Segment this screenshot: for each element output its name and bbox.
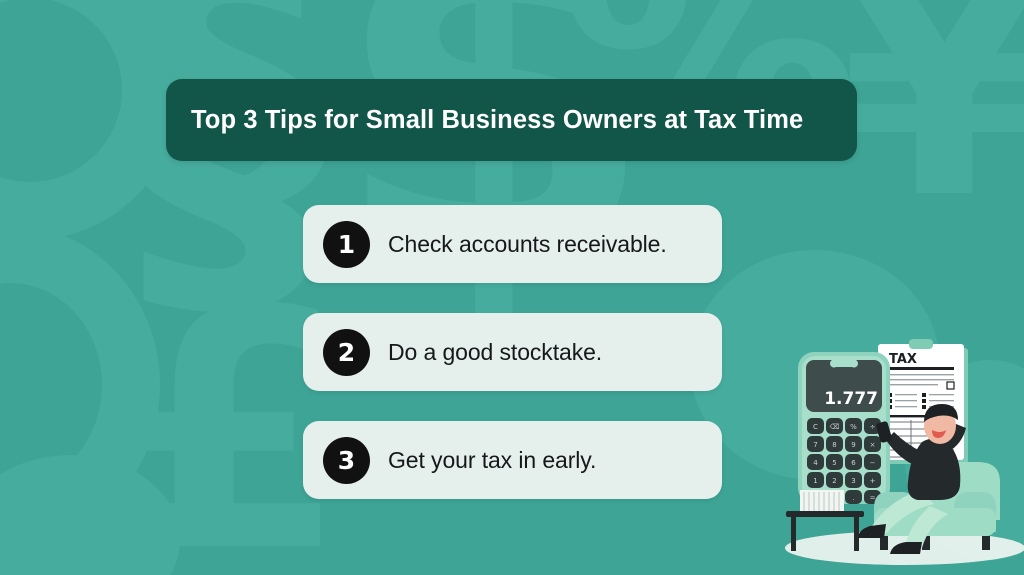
phone-calculator: 1.777 C ⌫ % ÷ 7 8 9 × 4 5 6	[798, 352, 890, 504]
svg-text:+: +	[870, 477, 876, 485]
svg-text:7: 7	[813, 441, 817, 449]
svg-text:6: 6	[851, 459, 856, 467]
tip-card-2[interactable]: 2 Do a good stocktake.	[303, 313, 722, 391]
svg-text:C: C	[813, 423, 818, 431]
tip-number-badge-1: 1	[323, 221, 370, 268]
svg-text:%: %	[850, 423, 857, 431]
svg-text:5: 5	[832, 459, 836, 467]
svg-text:3: 3	[851, 477, 855, 485]
svg-text:.: .	[852, 494, 854, 502]
svg-text:4: 4	[813, 459, 818, 467]
svg-text:9: 9	[851, 441, 855, 449]
svg-text:=: =	[870, 494, 876, 502]
page-title: Top 3 Tips for Small Business Owners at …	[191, 106, 803, 135]
tip-card-3[interactable]: 3 Get your tax in early.	[303, 421, 722, 499]
tip-label-2: Do a good stocktake.	[388, 339, 602, 366]
background-currency-glyph-5: ¥	[840, 0, 1024, 210]
svg-text:−: −	[870, 459, 876, 467]
tip-number-badge-2: 2	[323, 329, 370, 376]
tip-label-3: Get your tax in early.	[388, 447, 596, 474]
svg-text:×: ×	[870, 441, 876, 449]
poster-canvas: § $ % £ ¥ Top 3 Tips for Small Business …	[0, 0, 1024, 575]
tip-number-badge-3: 3	[323, 437, 370, 484]
tip-card-1[interactable]: 1 Check accounts receivable.	[303, 205, 722, 283]
svg-text:÷: ÷	[870, 423, 876, 431]
tip-label-1: Check accounts receivable.	[388, 231, 667, 258]
svg-text:⌫: ⌫	[830, 423, 840, 431]
illustration-tax-scene: TAX	[770, 330, 1024, 575]
svg-text:8: 8	[832, 441, 836, 449]
title-banner: Top 3 Tips for Small Business Owners at …	[166, 79, 857, 161]
tax-form-heading: TAX	[889, 352, 917, 367]
svg-text:1: 1	[813, 477, 817, 485]
calculator-display-value: 1.777	[824, 389, 878, 409]
svg-text:2: 2	[832, 477, 836, 485]
